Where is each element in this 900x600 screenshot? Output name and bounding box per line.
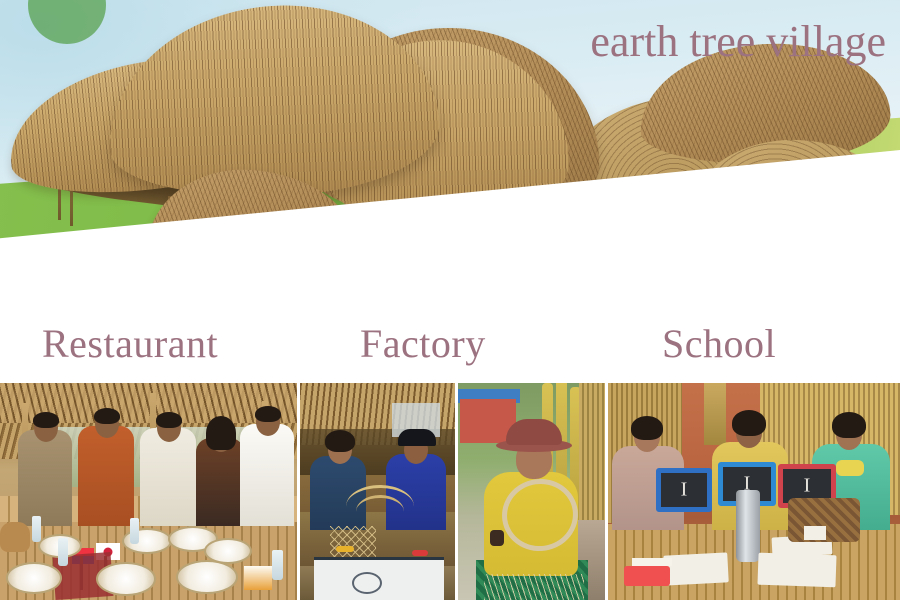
photo-factory-rope: [458, 383, 605, 600]
caption-school: School: [662, 322, 776, 366]
photo-restaurant: [0, 383, 297, 600]
photo-school-class: I I I: [608, 383, 900, 600]
earth-tree-village-poster: earth tree village Restaurant Factory Sc…: [0, 0, 900, 600]
page-title: earth tree village: [590, 18, 886, 66]
chalkboard-1: I: [656, 468, 712, 512]
caption-band: Restaurant Factory School: [0, 300, 900, 383]
caption-restaurant: Restaurant: [42, 322, 218, 366]
caption-factory: Factory: [360, 322, 486, 366]
photo-factory-weaving: [300, 383, 455, 600]
photo-strip: I I I: [0, 383, 900, 600]
chalkboard-glyph: I: [804, 475, 811, 498]
cap-icon: [398, 429, 436, 446]
chalkboard-glyph: I: [681, 479, 688, 502]
